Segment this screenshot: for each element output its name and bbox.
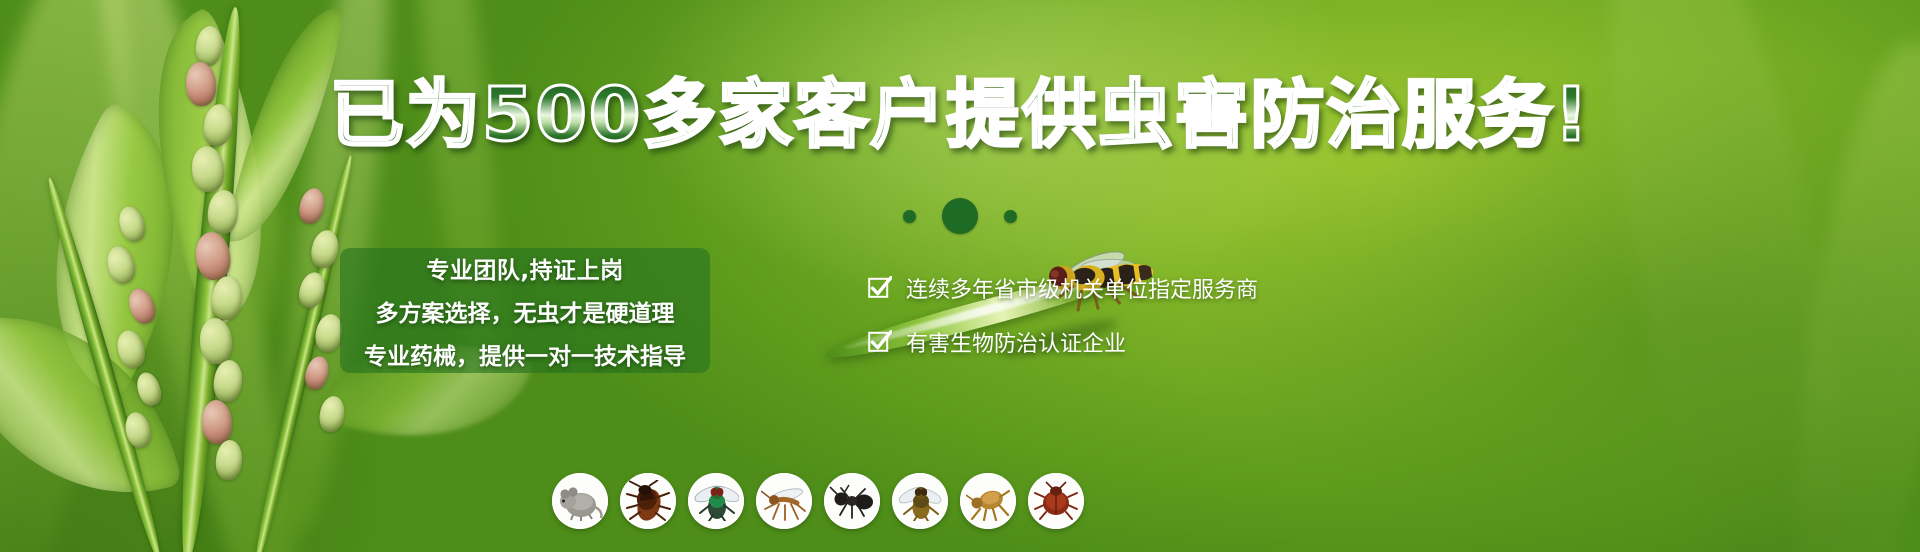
list-item: 连续多年省市级机关单位指定服务商 (868, 272, 1368, 304)
list-item-label: 有害生物防治认证企业 (906, 326, 1126, 358)
greenbottle-fly-icon[interactable] (892, 473, 948, 529)
mouse-icon[interactable] (552, 473, 608, 529)
page-title: 已为500多家客户提供虫害防治服务! (0, 78, 1920, 152)
mosquito-icon[interactable] (756, 473, 812, 529)
plant-bud (214, 439, 243, 481)
dot-small-right (1004, 210, 1017, 223)
feature-line-1: 专业团队,持证上岗 (426, 251, 623, 285)
pest-icon-row (552, 473, 1084, 529)
checkbox-checked-icon (868, 330, 892, 354)
list-item: 有害生物防治认证企业 (868, 326, 1368, 358)
housefly-icon[interactable] (688, 473, 744, 529)
list-item-label: 连续多年省市级机关单位指定服务商 (906, 272, 1258, 304)
bedbug-icon[interactable] (1028, 473, 1084, 529)
feature-highlight-box: 专业团队,持证上岗 多方案选择，无虫才是硬道理 专业药械，提供一对一技术指导 (340, 248, 710, 373)
dot-small-left (903, 210, 916, 223)
plant-bud (201, 399, 234, 445)
credential-bullet-list: 连续多年省市级机关单位指定服务商 有害生物防治认证企业 (868, 272, 1368, 358)
decorative-dot-group (0, 198, 1920, 234)
flea-icon[interactable] (960, 473, 1016, 529)
checkbox-checked-icon (868, 276, 892, 300)
ant-icon[interactable] (824, 473, 880, 529)
feature-line-2: 多方案选择，无虫才是硬道理 (376, 294, 675, 328)
cockroach-icon[interactable] (620, 473, 676, 529)
pest-control-banner: 已为500多家客户提供虫害防治服务! 专业团队,持证上岗 多方案选择，无虫才是硬… (0, 0, 1920, 552)
feature-line-3: 专业药械，提供一对一技术指导 (364, 337, 686, 371)
dot-large-center (942, 198, 978, 234)
